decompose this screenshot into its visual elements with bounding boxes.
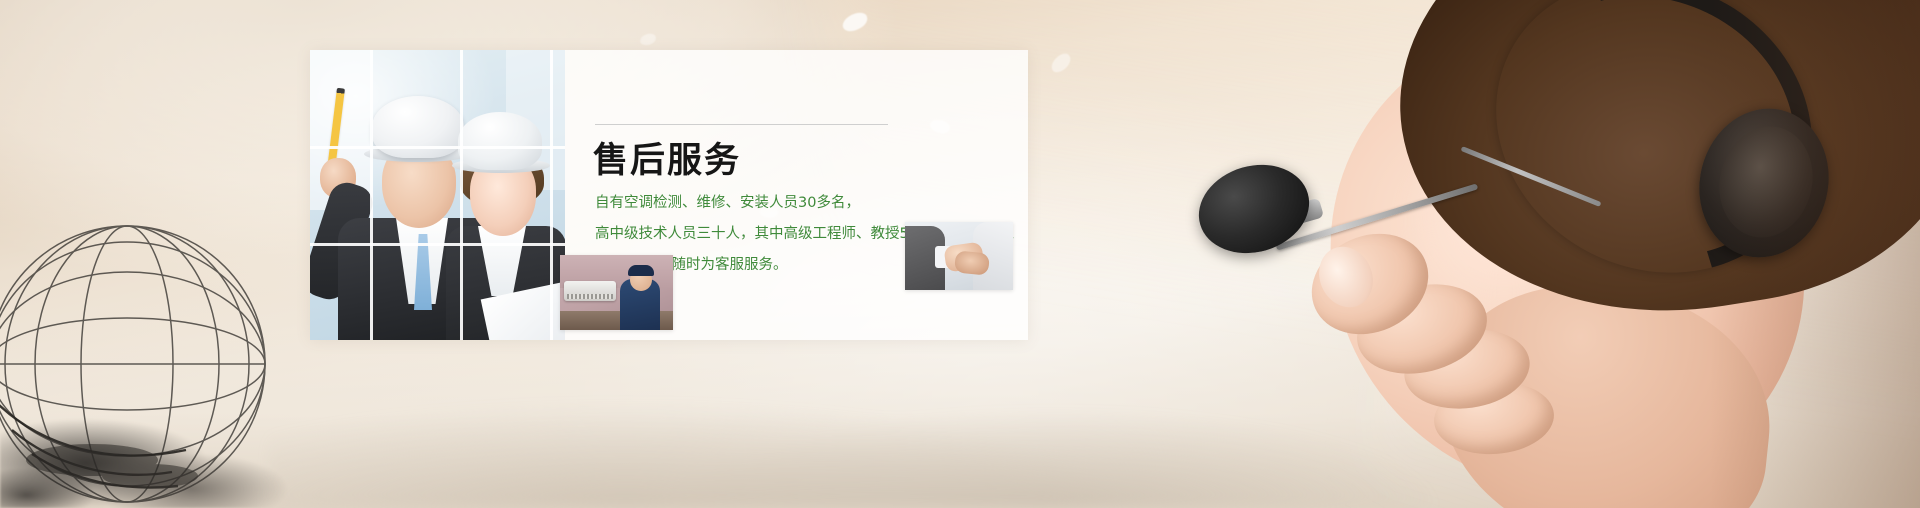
microphone-windscreen-icon bbox=[1188, 152, 1319, 266]
grid-line-v2 bbox=[460, 50, 463, 340]
handshake-hand-b bbox=[954, 250, 990, 275]
title-divider bbox=[595, 124, 888, 125]
card-title: 售后服务 bbox=[593, 132, 741, 183]
engineer2-hard-hat bbox=[458, 112, 542, 170]
engineers-photo bbox=[310, 50, 565, 340]
technician-cap bbox=[628, 265, 654, 276]
ac-install-photo bbox=[560, 255, 673, 330]
operator-edge-shadow bbox=[1620, 0, 1920, 508]
grid-line-h2 bbox=[310, 243, 565, 246]
operator-photo bbox=[1160, 0, 1920, 508]
grid-line-v1 bbox=[370, 50, 373, 340]
globe-shadow-rubble bbox=[0, 348, 330, 508]
body-line-1: 自有空调检测、维修、安装人员30多名， bbox=[595, 188, 1015, 219]
service-card: 售后服务 自有空调检测、维修、安装人员30多名， 高中级技术人员三十人，其中高级… bbox=[310, 50, 1028, 340]
handshake-photo bbox=[905, 222, 1013, 290]
banner-stage: 售后服务 自有空调检测、维修、安装人员30多名， 高中级技术人员三十人，其中高级… bbox=[0, 0, 1920, 508]
air-conditioner-vent bbox=[567, 294, 613, 299]
grid-line-h1 bbox=[310, 146, 565, 149]
grid-line-v3 bbox=[550, 50, 553, 340]
